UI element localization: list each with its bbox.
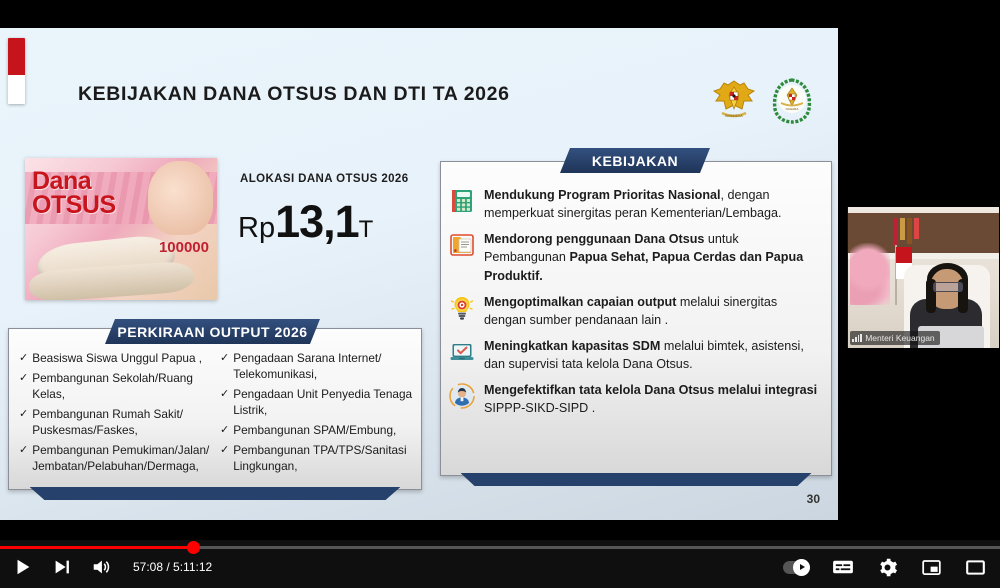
flower-decoration [850, 243, 890, 305]
output-item-text: Beasiswa Siswa Unggul Papua , [32, 351, 202, 367]
output-item-text: Pengadaan Sarana Internet/ Telekomunikas… [233, 351, 413, 383]
volume-button[interactable] [90, 556, 112, 578]
subtitles-button[interactable] [832, 556, 854, 578]
list-item: Mendukung Program Prioritas Nasional, de… [449, 186, 821, 222]
kebijakan-item-bold: Mengoptimalkan capaian output [484, 295, 676, 309]
allocation-amount: 13,1 [275, 196, 359, 247]
person-avatar-icon [449, 383, 475, 409]
progress-bar[interactable] [0, 546, 1000, 549]
output-panel: ✓Beasiswa Siswa Unggul Papua , ✓Pembangu… [8, 328, 422, 490]
money-denomination: 100000 [159, 239, 209, 256]
check-icon: ✓ [220, 443, 229, 475]
signal-bars-icon [852, 334, 862, 342]
output-right-column: ✓Pengadaan Sarana Internet/ Telekomunika… [220, 351, 413, 480]
kebijakan-item-bold: Mendorong penggunaan Dana Otsus [484, 232, 704, 246]
fullscreen-button[interactable] [964, 556, 986, 578]
speaker-name-badge: Menteri Keuangan [850, 331, 940, 345]
video-player-controls: 57:08 / 5:11:12 [0, 540, 1000, 588]
list-item: ✓Beasiswa Siswa Unggul Papua , [19, 351, 212, 367]
presentation-slide: KEBIJAKAN DANA OTSUS DAN DTI TA 2026 BHI… [0, 28, 838, 520]
check-icon: ✓ [19, 351, 28, 367]
list-item: ✓Pembangunan SPAM/Embung, [220, 423, 413, 439]
money-image-line2: OTSUS [32, 194, 116, 218]
kebijakan-panel-ribbon [461, 473, 812, 486]
kebijakan-item-bold: Meningkatkan kapasitas SDM [484, 339, 660, 353]
speaker-webcam-feed: Menteri Keuangan [847, 207, 999, 348]
svg-text:BHINNEKA: BHINNEKA [725, 114, 743, 118]
output-columns: ✓Beasiswa Siswa Unggul Papua , ✓Pembangu… [19, 351, 413, 480]
settings-gear-icon[interactable] [876, 556, 898, 578]
next-video-button[interactable] [51, 556, 73, 578]
video-player-page: KEBIJAKAN DANA OTSUS DAN DTI TA 2026 BHI… [0, 0, 1000, 588]
list-item: ✓Pembangunan TPA/TPS/Sanitasi Lingkungan… [220, 443, 413, 475]
kebijakan-item-text: Mengoptimalkan capaian output melalui si… [484, 293, 821, 329]
check-icon: ✓ [220, 351, 229, 383]
target-lightbulb-icon [449, 295, 475, 321]
output-left-column: ✓Beasiswa Siswa Unggul Papua , ✓Pembangu… [19, 351, 212, 480]
kebijakan-item-bold: Mendukung Program Prioritas Nasional [484, 188, 721, 202]
kebijakan-item-bold: Mengefektifkan tata kelola Dana Otsus me… [484, 383, 817, 397]
check-icon: ✓ [19, 407, 28, 439]
kementerian-keuangan-emblem: NAGARA [768, 75, 816, 125]
page-title: KEBIJAKAN DANA OTSUS DAN DTI TA 2026 [78, 83, 510, 106]
output-item-text: Pembangunan TPA/TPS/Sanitasi Lingkungan, [233, 443, 413, 475]
kebijakan-item-text: Mendukung Program Prioritas Nasional, de… [484, 186, 821, 222]
orange-folder-icon [449, 232, 475, 258]
kebijakan-list: Mendukung Program Prioritas Nasional, de… [449, 186, 821, 425]
output-item-text: Pembangunan SPAM/Embung, [233, 423, 396, 439]
miniplayer-button[interactable] [920, 556, 942, 578]
list-item: Mendorong penggunaan Dana Otsus untuk Pe… [449, 230, 821, 284]
output-item-text: Pembangunan Rumah Sakit/ Puskesmas/Faske… [32, 407, 212, 439]
kebijakan-panel-header: KEBIJAKAN [560, 148, 710, 173]
time-display: 57:08 / 5:11:12 [133, 560, 212, 574]
speaker-name: Menteri Keuangan [865, 333, 934, 343]
output-item-text: Pembangunan Sekolah/Ruang Kelas, [32, 371, 212, 403]
calculator-book-icon [449, 188, 475, 214]
check-icon: ✓ [19, 371, 28, 403]
red-white-bookmark-icon [8, 38, 25, 104]
dana-otsus-money-image: Dana OTSUS 100000 [25, 158, 217, 300]
allocation-currency: Rp [238, 212, 275, 244]
output-item-text: Pembangunan Pemukiman/Jalan/ Jembatan/Pe… [32, 443, 212, 475]
allocation-label: ALOKASI DANA OTSUS 2026 [240, 173, 409, 185]
output-panel-ribbon [30, 487, 401, 500]
autoplay-toggle[interactable] [783, 561, 810, 574]
list-item: Meningkatkan kapasitas SDM melalui bimte… [449, 337, 821, 373]
list-item: Mengefektifkan tata kelola Dana Otsus me… [449, 381, 821, 417]
kebijakan-item-text: Mengefektifkan tata kelola Dana Otsus me… [484, 381, 821, 417]
progress-played [0, 546, 193, 549]
laptop-check-icon [449, 339, 475, 365]
list-item: ✓Pembangunan Pemukiman/Jalan/ Jembatan/P… [19, 443, 212, 475]
kebijakan-item-rest: SIPPP-SIKD-SIPD . [484, 401, 595, 415]
output-panel-header: PERKIRAAN OUTPUT 2026 [105, 319, 320, 344]
progress-scrubber[interactable] [187, 541, 200, 554]
check-icon: ✓ [220, 423, 229, 439]
list-item: Mengoptimalkan capaian output melalui si… [449, 293, 821, 329]
list-item: ✓Pembangunan Rumah Sakit/ Puskesmas/Fask… [19, 407, 212, 439]
garuda-pancasila-emblem: BHINNEKA [710, 75, 758, 125]
kebijakan-panel: Mendukung Program Prioritas Nasional, de… [440, 161, 832, 476]
kebijakan-item-text: Mendorong penggunaan Dana Otsus untuk Pe… [484, 230, 821, 284]
list-item: ✓Pengadaan Sarana Internet/ Telekomunika… [220, 351, 413, 383]
check-icon: ✓ [19, 443, 28, 475]
emblem-group: BHINNEKA NAGARA [710, 75, 816, 125]
allocation-unit: T [359, 216, 374, 243]
kebijakan-item-text: Meningkatkan kapasitas SDM melalui bimte… [484, 337, 821, 373]
play-button[interactable] [12, 556, 34, 578]
slide-page-number: 30 [807, 492, 820, 506]
list-item: ✓Pembangunan Sekolah/Ruang Kelas, [19, 371, 212, 403]
allocation-value: Rp13,1T [238, 196, 373, 248]
output-item-text: Pengadaan Unit Penyedia Tenaga Listrik, [233, 387, 413, 419]
list-item: ✓Pengadaan Unit Penyedia Tenaga Listrik, [220, 387, 413, 419]
check-icon: ✓ [220, 387, 229, 419]
svg-text:NAGARA: NAGARA [786, 107, 799, 111]
